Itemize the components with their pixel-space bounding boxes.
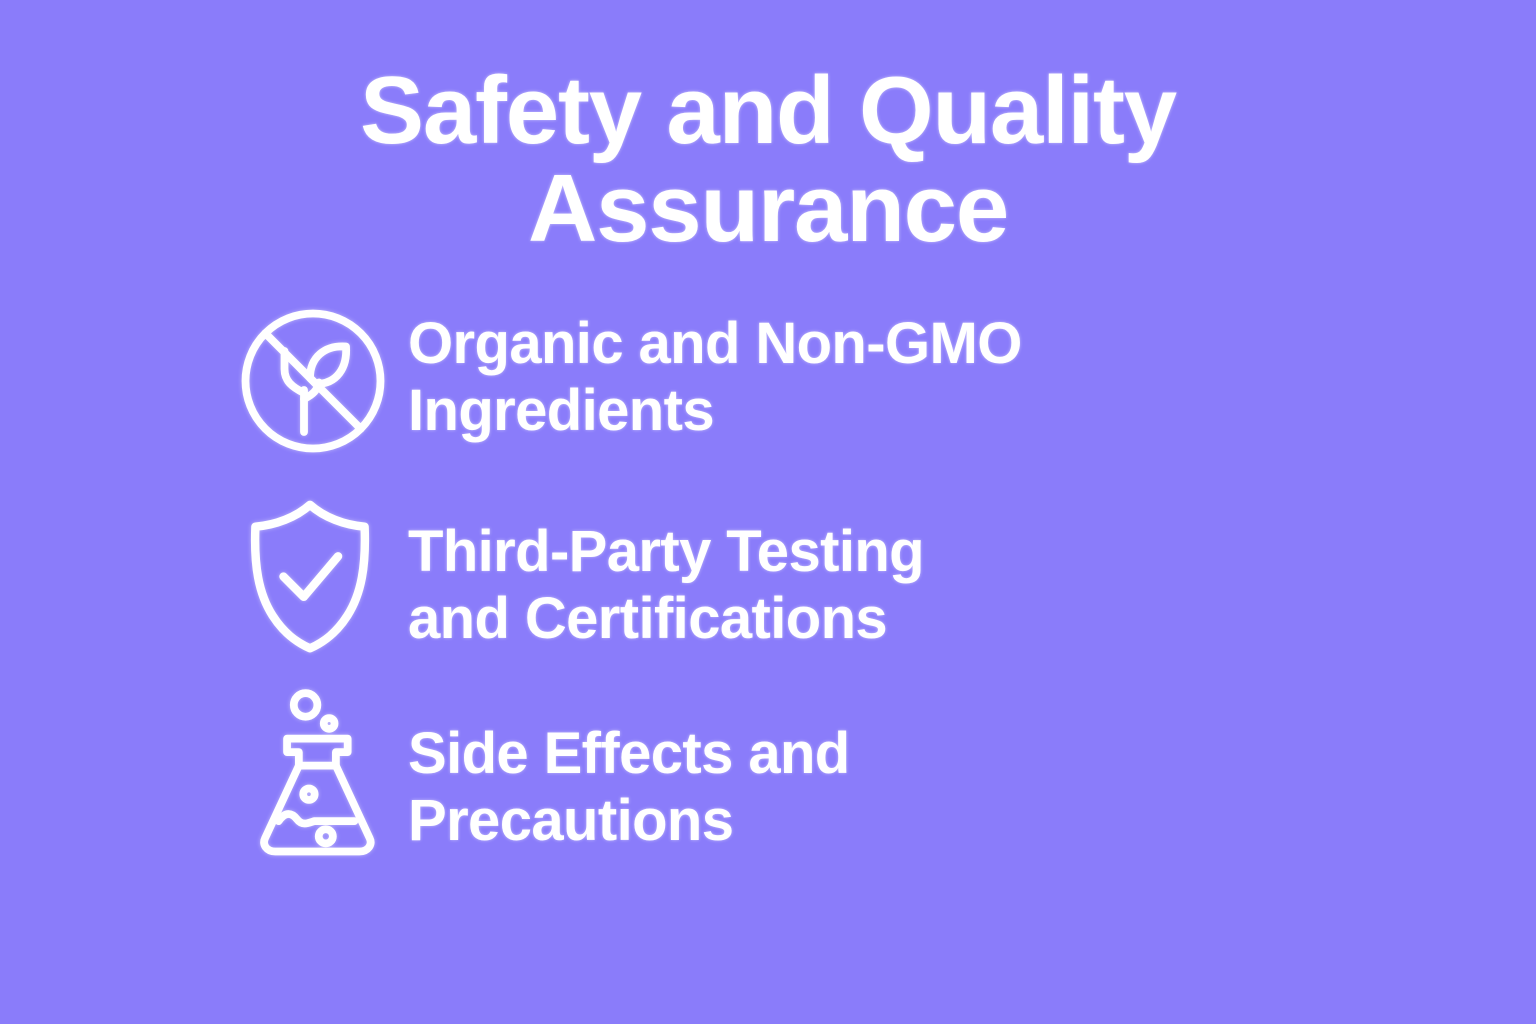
list-item[interactable]: Organic and Non-GMO Ingredients [232,296,1312,466]
erlenmeyer-flask-icon [232,684,408,854]
list-item-label: Organic and Non-GMO Ingredients [408,296,1022,445]
feature-list: Organic and Non-GMO Ingredients Third-Pa… [232,296,1312,855]
list-item[interactable]: Side Effects and Precautions [232,684,1312,855]
list-item-label: Side Effects and Precautions [408,684,850,855]
list-item-label: Third-Party Testing and Certifications [408,490,924,653]
slide-canvas: Safety and Quality Assurance [0,0,1536,1024]
no-gmo-icon [232,296,408,466]
title-block: Safety and Quality Assurance [0,62,1536,258]
page-title: Safety and Quality Assurance [120,62,1416,258]
shield-check-icon [232,490,408,660]
list-item[interactable]: Third-Party Testing and Certifications [232,490,1312,660]
